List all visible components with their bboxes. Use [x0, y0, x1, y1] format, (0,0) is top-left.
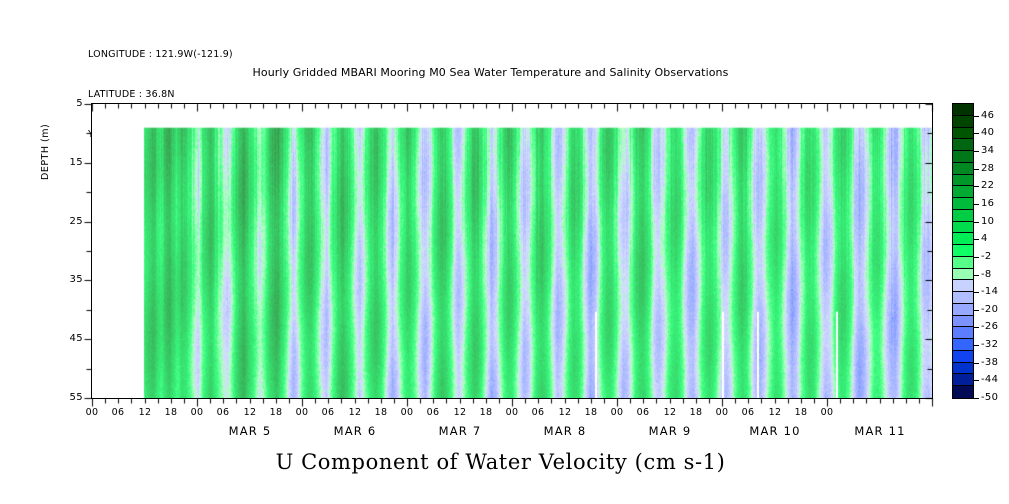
x-axis-hour-label: 06	[526, 407, 550, 418]
colorbar-segment	[953, 374, 973, 386]
colorbar-tick	[974, 186, 979, 187]
latitude-label: LATITUDE : 36.8N	[88, 88, 233, 101]
colorbar-segment	[953, 386, 973, 398]
colorbar-segment	[953, 363, 973, 375]
x-axis-hour-label: 18	[789, 407, 813, 418]
x-axis-day-label: MAR 7	[400, 424, 520, 438]
velocity-heatmap	[92, 104, 932, 398]
colorbar-tick	[974, 380, 979, 381]
x-axis-hour-label: 00	[290, 407, 314, 418]
x-axis-hour-label: 06	[106, 407, 130, 418]
x-axis-hour-label: 12	[448, 407, 472, 418]
x-axis-hour-label: 00	[185, 407, 209, 418]
x-axis-hour-label: 00	[395, 407, 419, 418]
y-axis-tick-label: 5	[57, 98, 83, 109]
x-axis-hour-label: 06	[316, 407, 340, 418]
chart-title: Hourly Gridded MBARI Mooring M0 Sea Wate…	[0, 66, 1009, 79]
colorbar	[952, 103, 974, 399]
colorbar-segment	[953, 327, 973, 339]
colorbar-tick	[974, 222, 979, 223]
colorbar-tick	[974, 257, 979, 258]
x-axis-hour-label: 18	[369, 407, 393, 418]
longitude-label: LONGITUDE : 121.9W(-121.9)	[88, 48, 233, 61]
x-axis-hour-label: 00	[500, 407, 524, 418]
bottom-title-text: U Component of Water Velocity (cm s-1)	[276, 450, 726, 474]
colorbar-tick-label: -32	[981, 339, 998, 350]
colorbar-segment	[953, 151, 973, 163]
colorbar-segment	[953, 304, 973, 316]
colorbar-tick	[974, 239, 979, 240]
x-axis-hour-label: 18	[159, 407, 183, 418]
x-axis-day-label: MAR 11	[820, 424, 940, 438]
colorbar-tick	[974, 151, 979, 152]
colorbar-segment	[953, 186, 973, 198]
x-axis-hour-label: 12	[133, 407, 157, 418]
colorbar-tick	[974, 169, 979, 170]
chart-root: LONGITUDE : 121.9W(-121.9) LATITUDE : 36…	[0, 0, 1009, 504]
x-axis-hour-label: 06	[631, 407, 655, 418]
colorbar-tick	[974, 275, 979, 276]
colorbar-segment	[953, 339, 973, 351]
colorbar-tick-label: -14	[981, 286, 998, 297]
x-axis-hour-label: 00	[80, 407, 104, 418]
x-axis-day-label: MAR 8	[505, 424, 625, 438]
colorbar-segment	[953, 351, 973, 363]
colorbar-tick-label: -38	[981, 357, 998, 368]
x-axis-hour-label: 18	[579, 407, 603, 418]
bottom-title: U Component of Water Velocity (cm s-1)	[0, 450, 1009, 474]
colorbar-segment	[953, 269, 973, 281]
colorbar-tick	[974, 292, 979, 293]
colorbar-segment	[953, 116, 973, 128]
colorbar-segment	[953, 316, 973, 328]
colorbar-tick-label: 40	[981, 127, 994, 138]
colorbar-segment	[953, 175, 973, 187]
x-axis-hour-label: 18	[684, 407, 708, 418]
colorbar-tick-label: -44	[981, 374, 998, 385]
colorbar-tick-label: 22	[981, 180, 994, 191]
colorbar-tick	[974, 345, 979, 346]
colorbar-tick	[974, 133, 979, 134]
colorbar-segment	[953, 257, 973, 269]
y-axis-tick-label: 25	[57, 216, 83, 227]
x-axis-day-label: MAR 6	[295, 424, 415, 438]
chart-title-text: Hourly Gridded MBARI Mooring M0 Sea Wate…	[253, 66, 729, 79]
x-axis-hour-label: 06	[736, 407, 760, 418]
x-axis-day-label: MAR 9	[610, 424, 730, 438]
colorbar-tick	[974, 116, 979, 117]
colorbar-tick	[974, 363, 979, 364]
colorbar-segment	[953, 104, 973, 116]
plot-area	[91, 103, 933, 399]
x-axis-hour-label: 18	[264, 407, 288, 418]
y-axis-tick-label: 55	[57, 392, 83, 403]
y-axis-tick-label: 35	[57, 274, 83, 285]
colorbar-segment	[953, 233, 973, 245]
colorbar-tick-label: 46	[981, 110, 994, 121]
x-axis-hour-label: 00	[815, 407, 839, 418]
colorbar-segment	[953, 198, 973, 210]
colorbar-tick	[974, 204, 979, 205]
colorbar-tick-label: 16	[981, 198, 994, 209]
colorbar-tick-label: 10	[981, 216, 994, 227]
colorbar-tick	[974, 398, 979, 399]
colorbar-segment	[953, 139, 973, 151]
x-axis-hour-label: 12	[763, 407, 787, 418]
x-axis-hour-label: 12	[343, 407, 367, 418]
colorbar-segment	[953, 128, 973, 140]
y-axis-tick-label: 15	[57, 157, 83, 168]
y-axis-title: DEPTH (m)	[40, 124, 51, 180]
colorbar-segment	[953, 245, 973, 257]
x-axis-day-label: MAR 10	[715, 424, 835, 438]
colorbar-segment	[953, 280, 973, 292]
x-axis-hour-label: 12	[553, 407, 577, 418]
colorbar-segment	[953, 163, 973, 175]
colorbar-segment	[953, 292, 973, 304]
colorbar-tick-label: -8	[981, 269, 992, 280]
colorbar-tick	[974, 327, 979, 328]
colorbar-tick-label: 4	[981, 233, 988, 244]
colorbar-tick-label: 28	[981, 163, 994, 174]
x-axis-hour-label: 18	[474, 407, 498, 418]
x-axis-hour-label: 12	[238, 407, 262, 418]
colorbar-tick	[974, 310, 979, 311]
colorbar-tick-label: -2	[981, 251, 992, 262]
x-axis-hour-label: 06	[211, 407, 235, 418]
x-axis-hour-label: 06	[421, 407, 445, 418]
y-axis-tick-label: 45	[57, 333, 83, 344]
colorbar-tick-label: 34	[981, 145, 994, 156]
colorbar-tick-label: -20	[981, 304, 998, 315]
x-axis-hour-label: 00	[710, 407, 734, 418]
colorbar-tick-label: -50	[981, 392, 998, 403]
x-axis-day-label: MAR 5	[190, 424, 310, 438]
x-axis-hour-label: 00	[605, 407, 629, 418]
colorbar-tick-label: -26	[981, 321, 998, 332]
colorbar-segment	[953, 222, 973, 234]
x-axis-hour-label: 12	[658, 407, 682, 418]
colorbar-segment	[953, 210, 973, 222]
